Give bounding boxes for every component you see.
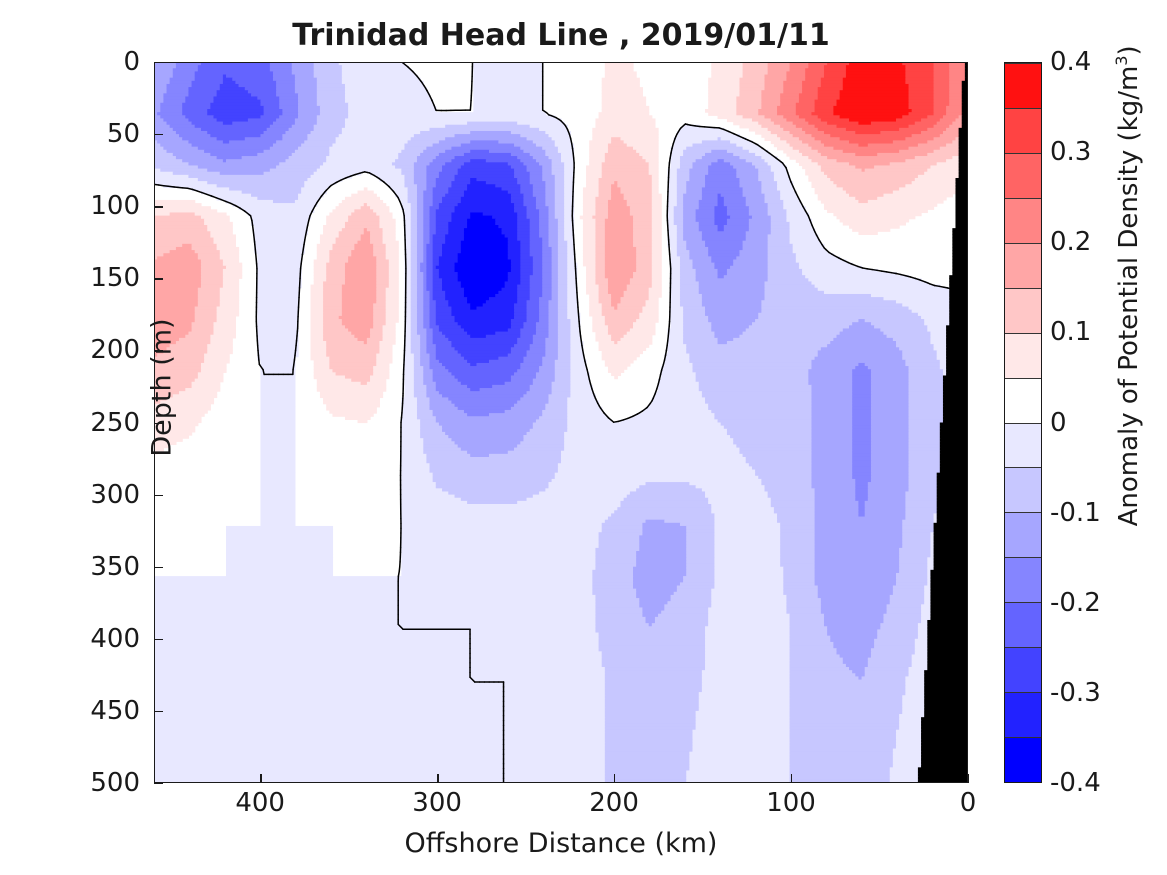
y-tick-100: 100 — [20, 191, 152, 221]
colorbar-band-14 — [1005, 108, 1041, 153]
plot-area[interactable]: Depth (m) Offshore Distance (km) 0501001… — [154, 62, 968, 783]
y-tickmark-400 — [154, 639, 163, 640]
y-tick-300: 300 — [20, 480, 152, 510]
y-axis-label: Depth (m) — [147, 188, 178, 588]
y-tick-200: 200 — [20, 335, 152, 365]
x-tick-100: 100 — [731, 788, 851, 818]
colorbar-band-1 — [1005, 692, 1041, 737]
colorbar-band-11 — [1005, 243, 1041, 288]
contour-field — [154, 62, 968, 783]
y-tick-450: 450 — [20, 696, 152, 726]
colorbar-band-10 — [1005, 288, 1041, 333]
y-tickmark-0 — [154, 62, 163, 63]
y-tick-0: 0 — [20, 47, 152, 77]
colorbar-label-tail: ) — [1114, 45, 1144, 55]
y-tickmark-200 — [154, 350, 163, 351]
y-tickmark-350 — [154, 567, 163, 568]
colorbar-tick-0: 0 — [1050, 408, 1067, 438]
y-tickmark-500 — [154, 783, 163, 784]
y-tickmark-250 — [154, 423, 163, 424]
colorbar-tick-0.4: 0.4 — [1050, 47, 1091, 77]
y-tick-500: 500 — [20, 768, 152, 798]
x-tickmark-400 — [260, 774, 261, 783]
x-tickmark-300 — [437, 774, 438, 783]
colorbar-tick--0.3: -0.3 — [1050, 678, 1101, 708]
y-tickmark-300 — [154, 495, 163, 496]
y-tick-150: 150 — [20, 263, 152, 293]
x-tickmark-100 — [791, 774, 792, 783]
colorbar-label-exponent: 3 — [1112, 55, 1131, 65]
y-tickmark-150 — [154, 278, 163, 279]
colorbar-band-8 — [1005, 378, 1041, 423]
colorbar-band-3 — [1005, 602, 1041, 647]
y-tick-400: 400 — [20, 624, 152, 654]
colorbar-label-main: Anomaly of Potential Density (kg/m — [1114, 66, 1144, 527]
y-tick-50: 50 — [20, 119, 152, 149]
colorbar-band-13 — [1005, 153, 1041, 198]
colorbar-tick-0.2: 0.2 — [1050, 227, 1091, 257]
x-tick-300: 300 — [377, 788, 497, 818]
x-tickmark-0 — [968, 774, 969, 783]
x-axis-label: Offshore Distance (km) — [154, 828, 968, 859]
filled-contours — [154, 62, 968, 783]
contour-figure: Trinidad Head Line , 2019/01/11 Depth (m… — [0, 0, 1167, 875]
colorbar-band-7 — [1005, 423, 1041, 468]
colorbar-tick-0.3: 0.3 — [1050, 137, 1091, 167]
colorbar-tick--0.2: -0.2 — [1050, 588, 1101, 618]
colorbar-tick--0.4: -0.4 — [1050, 768, 1101, 798]
x-tick-200: 200 — [554, 788, 674, 818]
colorbar-band-15 — [1005, 63, 1041, 108]
y-tickmark-100 — [154, 206, 163, 207]
y-tick-250: 250 — [20, 408, 152, 438]
colorbar-band-9 — [1005, 333, 1041, 378]
colorbar-label: Anomaly of Potential Density (kg/m3) — [1112, 26, 1144, 546]
x-tick-400: 400 — [200, 788, 320, 818]
colorbar-band-12 — [1005, 198, 1041, 243]
y-tick-350: 350 — [20, 552, 152, 582]
x-tick-0: 0 — [908, 788, 1028, 818]
page-title: Trinidad Head Line , 2019/01/11 — [154, 18, 968, 53]
colorbar-tick--0.1: -0.1 — [1050, 498, 1101, 528]
x-tickmark-200 — [614, 774, 615, 783]
colorbar-tick-0.1: 0.1 — [1050, 317, 1091, 347]
colorbar[interactable] — [1004, 62, 1042, 783]
colorbar-band-6 — [1005, 467, 1041, 512]
colorbar-band-2 — [1005, 647, 1041, 692]
colorbar-band-0 — [1005, 737, 1041, 782]
colorbar-band-4 — [1005, 557, 1041, 602]
y-tickmark-450 — [154, 711, 163, 712]
y-tickmark-50 — [154, 134, 163, 135]
colorbar-band-5 — [1005, 512, 1041, 557]
